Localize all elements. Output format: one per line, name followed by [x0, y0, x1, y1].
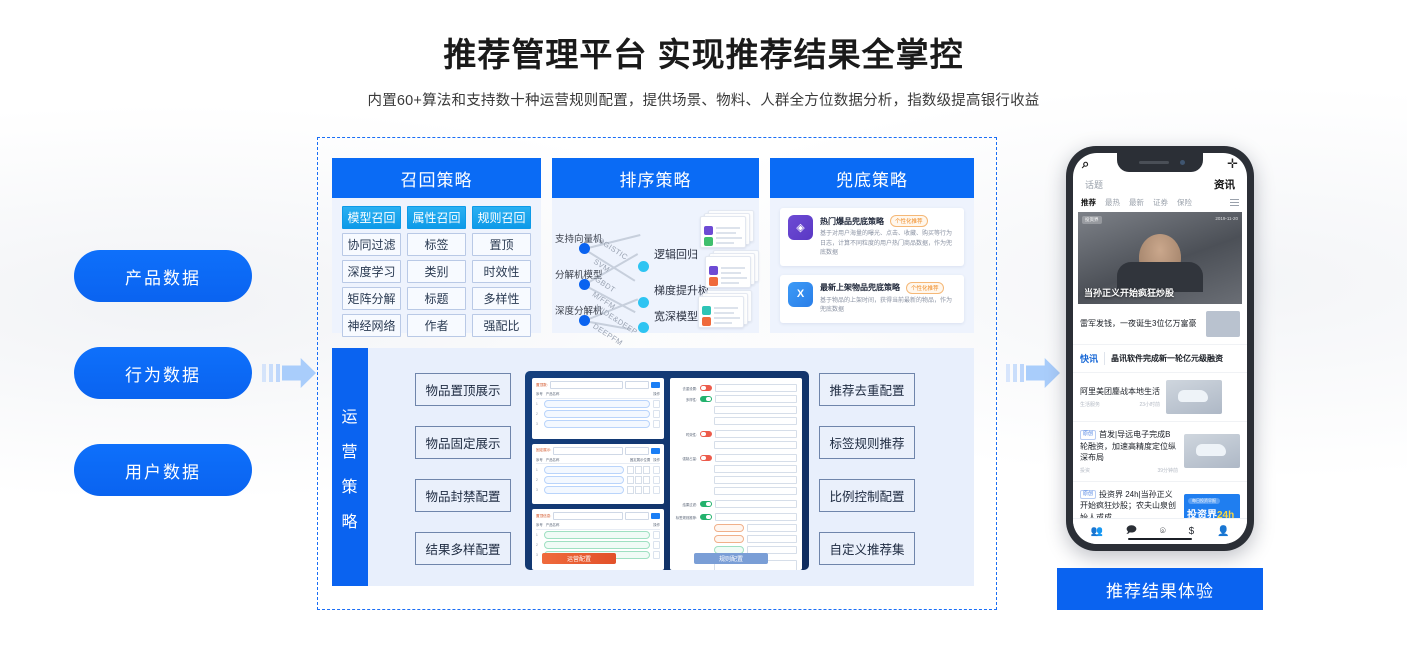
table-row: 2: [536, 541, 660, 549]
ad-badge: 每日投资早报: [1188, 498, 1220, 504]
phone-tab-new[interactable]: 最新: [1129, 197, 1144, 208]
delete-icon[interactable]: [653, 400, 660, 408]
quantity-stepper[interactable]: [627, 466, 650, 474]
date-range-input[interactable]: [553, 447, 623, 455]
phone-screen: ⌕ ✛ 话题 资讯 推荐 最热 最新 证券 保险 投资界 2019-11-20 …: [1073, 153, 1247, 544]
form-field-label: 标签规则推荐:: [675, 515, 697, 520]
op-button-custom-recommend-set[interactable]: 自定义推荐集: [819, 532, 915, 565]
delete-icon[interactable]: [653, 466, 660, 474]
search-icon[interactable]: ⌕: [1082, 156, 1089, 172]
compass-icon: ◈: [788, 215, 813, 240]
recall-cell[interactable]: 作者: [407, 314, 466, 337]
sorting-diagram: 支持向量机 分解机模型 深度分解机 逻辑回归 梯度提升树 宽深模型 LOGIST…: [552, 198, 759, 333]
table-row: 1: [536, 531, 660, 539]
recommend-result-experience-button[interactable]: 推荐结果体验: [1057, 568, 1263, 610]
fallback-item-title: 热门爆品兜底策略: [820, 216, 884, 227]
recall-cell[interactable]: 神经网络: [342, 314, 401, 337]
speaker-icon: [1139, 161, 1169, 164]
fallback-list: ◈ 热门爆品兜底策略 个性化推荐 基于对用户海量的曝光、点击、收藏、购买等行为日…: [770, 198, 974, 342]
recall-cell[interactable]: 置顶: [472, 233, 531, 256]
table-row: 1: [536, 400, 660, 408]
sorting-right-node-label: 逻辑回归: [654, 246, 698, 262]
op-button-tag-rule-recommend[interactable]: 标签规则推荐: [819, 426, 915, 459]
operations-label-char: 运: [341, 403, 358, 427]
data-pill-user[interactable]: 用户数据: [74, 444, 252, 496]
fallback-item[interactable]: ◈ 热门爆品兜底策略 个性化推荐 基于对用户海量的曝光、点击、收藏、购买等行为日…: [780, 208, 964, 266]
card-recall-strategy: 召回策略 模型召回 属性召回 规则召回 协同过滤 标签 置顶 深度学习 类别 时…: [332, 158, 541, 333]
arrow-right-icon-right: [1006, 356, 1062, 390]
feed-text: 阿里美团鏖战本地生活: [1080, 386, 1160, 398]
search-icon[interactable]: [651, 513, 660, 519]
row-pill: [544, 476, 624, 484]
feed-meta-right: 39分钟前: [1157, 467, 1178, 474]
camera-icon[interactable]: ⌾: [1160, 526, 1166, 537]
phone-hero-article[interactable]: 投资界 2019-11-20 当孙正义开始疯狂炒股: [1078, 212, 1242, 304]
delete-icon[interactable]: [653, 420, 660, 428]
row-pill: [544, 400, 650, 408]
card-fallback-title: 兜底策略: [770, 158, 974, 198]
recall-column-header[interactable]: 属性召回: [407, 206, 466, 229]
form-field-label: 时效性:: [675, 432, 697, 437]
operations-label-char: 策: [341, 473, 358, 497]
feed-text: 晶讯软件完成新一轮亿元级融资: [1111, 353, 1223, 364]
col-header: 操作: [653, 522, 660, 527]
row-index: 1: [536, 533, 541, 537]
home-indicator: [1128, 538, 1192, 541]
recall-cell[interactable]: 多样性: [472, 287, 531, 310]
page-title: 推荐管理平台 实现推荐结果全掌控: [0, 34, 1407, 76]
delete-icon[interactable]: [653, 541, 660, 549]
recall-cell[interactable]: 协同过滤: [342, 233, 401, 256]
phone-notch: [1117, 153, 1203, 172]
feed-meta-left: 投资: [1080, 467, 1090, 474]
screenshot-rule-form: 去重设置: 多样性: 时效性: 强制占量: 结果过滤: 标签规则推荐:: [670, 378, 802, 570]
phone-mockup: ⌕ ✛ 话题 资讯 推荐 最热 最新 证券 保险 投资界 2019-11-20 …: [1066, 146, 1254, 551]
recall-cell[interactable]: 强配比: [472, 314, 531, 337]
table-row: 2: [536, 476, 660, 484]
fallback-item-title: 最新上架物品兜底策略: [820, 282, 900, 293]
op-button-result-diversity-config[interactable]: 结果多样配置: [415, 532, 511, 565]
recall-cell[interactable]: 时效性: [472, 260, 531, 283]
col-header: 序号: [536, 522, 543, 527]
table-row: 3: [536, 420, 660, 428]
page-subtitle: 内置60+算法和支持数十种运营规则配置，提供场景、物料、人群全方位数据分析，指数…: [0, 89, 1407, 110]
row-index: 2: [536, 478, 541, 482]
tab-rule-config[interactable]: 规则配置: [694, 553, 768, 564]
recall-cell[interactable]: 标题: [407, 287, 466, 310]
profile-icon[interactable]: 👤: [1217, 526, 1229, 537]
operations-vertical-label: 运 营 策 略: [332, 348, 368, 586]
op-button-item-pin-display[interactable]: 物品置顶展示: [415, 373, 511, 406]
toggle-switch[interactable]: [700, 385, 712, 391]
recall-cell[interactable]: 矩阵分解: [342, 287, 401, 310]
new-arrival-icon: X: [788, 282, 813, 307]
recall-cell[interactable]: 标签: [407, 233, 466, 256]
sorting-thumbnail-stack: [700, 210, 752, 246]
form-field-label: 多样性:: [675, 397, 697, 402]
date-range-input[interactable]: [553, 512, 623, 520]
phone-nav: 话题 资讯: [1073, 175, 1247, 195]
row-pill: [544, 531, 650, 539]
plus-icon[interactable]: ✛: [1227, 156, 1238, 172]
row-pill: [544, 541, 650, 549]
screenshot-field-label: 置顶数:: [536, 383, 548, 388]
hero-badge: 投资界: [1082, 216, 1102, 224]
people-icon[interactable]: 👥: [1090, 526, 1102, 537]
recall-column-header[interactable]: 模型召回: [342, 206, 401, 229]
row-index: 1: [536, 402, 541, 406]
row-index: 3: [536, 422, 541, 426]
toggle-switch[interactable]: [700, 431, 712, 437]
fallback-item-tag: 个性化推荐: [906, 282, 944, 294]
col-header: 产品名称: [546, 457, 560, 462]
row-pill: [544, 486, 624, 494]
toggle-switch[interactable]: [700, 396, 712, 402]
table-row: 1: [536, 466, 660, 474]
operations-label-char: 略: [341, 508, 358, 532]
op-button-item-ban-config[interactable]: 物品封禁配置: [415, 479, 511, 512]
arrow-right-icon-left: [262, 356, 318, 390]
hero-caption: 当孙正义开始疯狂炒股: [1084, 286, 1174, 299]
feed-thumbnail: [1166, 380, 1222, 414]
dollar-icon[interactable]: $: [1189, 526, 1195, 537]
screenshot-left-column: 置顶数: 序号 产品名称 操作 1 2 3 固定展示:: [532, 378, 664, 570]
flash-keyword: 快讯: [1080, 352, 1105, 365]
table-row: 3: [536, 486, 660, 494]
search-icon[interactable]: [651, 448, 660, 454]
data-pill-product[interactable]: 产品数据: [74, 250, 252, 302]
sorting-right-node-label: 宽深模型: [654, 308, 698, 324]
col-header: 操作: [653, 457, 660, 462]
list-item[interactable]: 阿里美团鏖战本地生活 生活服务 23小时前: [1073, 373, 1247, 422]
camera-icon: [1180, 160, 1185, 165]
card-recall-title: 召回策略: [332, 158, 541, 198]
fallback-item-desc: 基于物品的上架时间，获得当前最新的物品，作为兜底数据: [820, 297, 956, 316]
col-header: 固定展示位置: [630, 457, 650, 462]
screenshot-field-label: 固定展示:: [536, 448, 551, 453]
table-row: 2: [536, 410, 660, 418]
screenshot-panel-pin: 置顶数: 序号 产品名称 操作 1 2 3: [532, 378, 664, 439]
col-header: 序号: [536, 391, 543, 396]
page-header: 推荐管理平台 实现推荐结果全掌控 内置60+算法和支持数十种运营规则配置，提供场…: [0, 34, 1407, 110]
sorting-right-node-dot: [638, 297, 649, 308]
toggle-switch[interactable]: [700, 501, 712, 507]
form-field-label: 结果过滤:: [675, 502, 697, 507]
recall-grid: 模型召回 属性召回 规则召回 协同过滤 标签 置顶 深度学习 类别 时效性 矩阵…: [332, 198, 541, 343]
data-pill-behavior[interactable]: 行为数据: [74, 347, 252, 399]
col-header: 操作: [653, 391, 660, 396]
toggle-switch[interactable]: [700, 455, 712, 461]
sorting-right-node-dot: [638, 322, 649, 333]
op-button-dedup-config[interactable]: 推荐去重配置: [819, 373, 915, 406]
operations-label-char: 营: [341, 438, 358, 462]
sorting-right-node-dot: [638, 261, 649, 272]
hero-time: 2019-11-20: [1215, 216, 1238, 221]
list-item[interactable]: 快讯 晶讯软件完成新一轮亿元级融资: [1073, 345, 1247, 373]
delete-icon[interactable]: [653, 531, 660, 539]
nav-news[interactable]: 资讯: [1214, 177, 1235, 192]
delete-icon[interactable]: [653, 486, 660, 494]
tab-operations-config[interactable]: 运营配置: [542, 553, 616, 564]
search-input[interactable]: [625, 381, 649, 389]
fallback-item-tag: 个性化推荐: [890, 215, 928, 227]
toggle-switch[interactable]: [700, 514, 712, 520]
delete-icon[interactable]: [653, 410, 660, 418]
fallback-item[interactable]: X 最新上架物品兜底策略 个性化推荐 基于物品的上架时间，获得当前最新的物品，作…: [780, 275, 964, 323]
recall-cell[interactable]: 类别: [407, 260, 466, 283]
search-input[interactable]: [625, 512, 649, 520]
quantity-stepper[interactable]: [627, 486, 650, 494]
sorting-thumbnail-stack: [698, 290, 750, 326]
nav-topic[interactable]: 话题: [1085, 178, 1103, 191]
col-header: 产品名称: [546, 522, 560, 527]
phone-bottom-nav: 👥 🗩 ⌾ $ 👤: [1073, 518, 1247, 544]
row-index: 2: [536, 543, 541, 547]
sorting-thumbnail-stack: [705, 250, 757, 286]
phone-tab-recommend[interactable]: 推荐: [1081, 197, 1096, 208]
fallback-item-desc: 基于对用户海量的曝光、点击、收藏、购买等行为日志，计算不同粒度的用户热门商品数据…: [820, 230, 956, 259]
feed-meta-right: 23小时前: [1139, 401, 1160, 408]
row-pill: [544, 466, 624, 474]
row-pill: [544, 410, 650, 418]
col-header: 序号: [536, 457, 543, 462]
card-fallback-strategy: 兜底策略 ◈ 热门爆品兜底策略 个性化推荐 基于对用户海量的曝光、点击、收藏、购…: [770, 158, 974, 333]
feed-meta-left: 生活服务: [1080, 401, 1100, 408]
screenshot-right-column: 去重设置: 多样性: 时效性: 强制占量: 结果过滤: 标签规则推荐:: [670, 378, 802, 570]
operations-strategy-panel: 运 营 策 略 物品置顶展示 物品固定展示 物品封禁配置 结果多样配置 推荐去重…: [332, 348, 974, 586]
feed-thumbnail: [1206, 311, 1240, 337]
feed-tag: 原创: [1080, 490, 1096, 499]
feed-tag: 原创: [1080, 430, 1096, 439]
phone-tab-insurance[interactable]: 保险: [1177, 197, 1192, 208]
row-index: 3: [536, 488, 541, 492]
card-sorting-title: 排序策略: [552, 158, 759, 198]
delete-icon[interactable]: [653, 476, 660, 484]
feed-text: 雷军发钱，一夜诞生3位亿万富豪: [1080, 318, 1200, 330]
phone-tab-securities[interactable]: 证券: [1153, 197, 1168, 208]
product-screenshot: 置顶数: 序号 产品名称 操作 1 2 3 固定展示:: [525, 371, 809, 570]
phone-tab-hot[interactable]: 最热: [1105, 197, 1120, 208]
sorting-left-node-dot: [579, 243, 590, 254]
recall-column-header[interactable]: 规则召回: [472, 206, 531, 229]
feed-thumbnail: [1184, 434, 1240, 468]
op-button-item-fixed-display[interactable]: 物品固定展示: [415, 426, 511, 459]
phone-tabs: 推荐 最热 最新 证券 保险: [1073, 195, 1247, 212]
search-icon[interactable]: [651, 382, 660, 388]
card-sorting-strategy: 排序策略 支持向量机 分解机模型 深度分解机 逻辑回归 梯度提升树 宽深模型 L…: [552, 158, 759, 333]
screenshot-field-label: 置顶信息:: [536, 514, 551, 519]
menu-icon[interactable]: [1230, 199, 1239, 206]
row-index: 2: [536, 412, 541, 416]
col-header: 产品名称: [546, 391, 560, 396]
op-button-ratio-control-config[interactable]: 比例控制配置: [819, 479, 915, 512]
recall-cell[interactable]: 深度学习: [342, 260, 401, 283]
sorting-left-node-dot: [579, 279, 590, 290]
form-field-label: 强制占量:: [675, 456, 697, 461]
row-pill: [544, 420, 650, 428]
date-range-input[interactable]: [550, 381, 623, 389]
screenshot-panel-fixed: 固定展示: 序号 产品名称 固定展示位置 操作 1 2 3: [532, 444, 664, 505]
screenshot-tabs: 运营配置 规则配置: [532, 553, 802, 564]
sorting-left-node-dot: [579, 315, 590, 326]
search-input[interactable]: [625, 447, 649, 455]
row-index: 1: [536, 468, 541, 472]
form-field-label: 去重设置:: [675, 386, 697, 391]
quantity-stepper[interactable]: [627, 476, 650, 484]
list-item[interactable]: 原创首发|导远电子完成B轮融资，加速高精度定位纵深布局 投资 39分钟前: [1073, 422, 1247, 482]
list-item[interactable]: 雷军发钱，一夜诞生3位亿万富豪: [1073, 304, 1247, 345]
